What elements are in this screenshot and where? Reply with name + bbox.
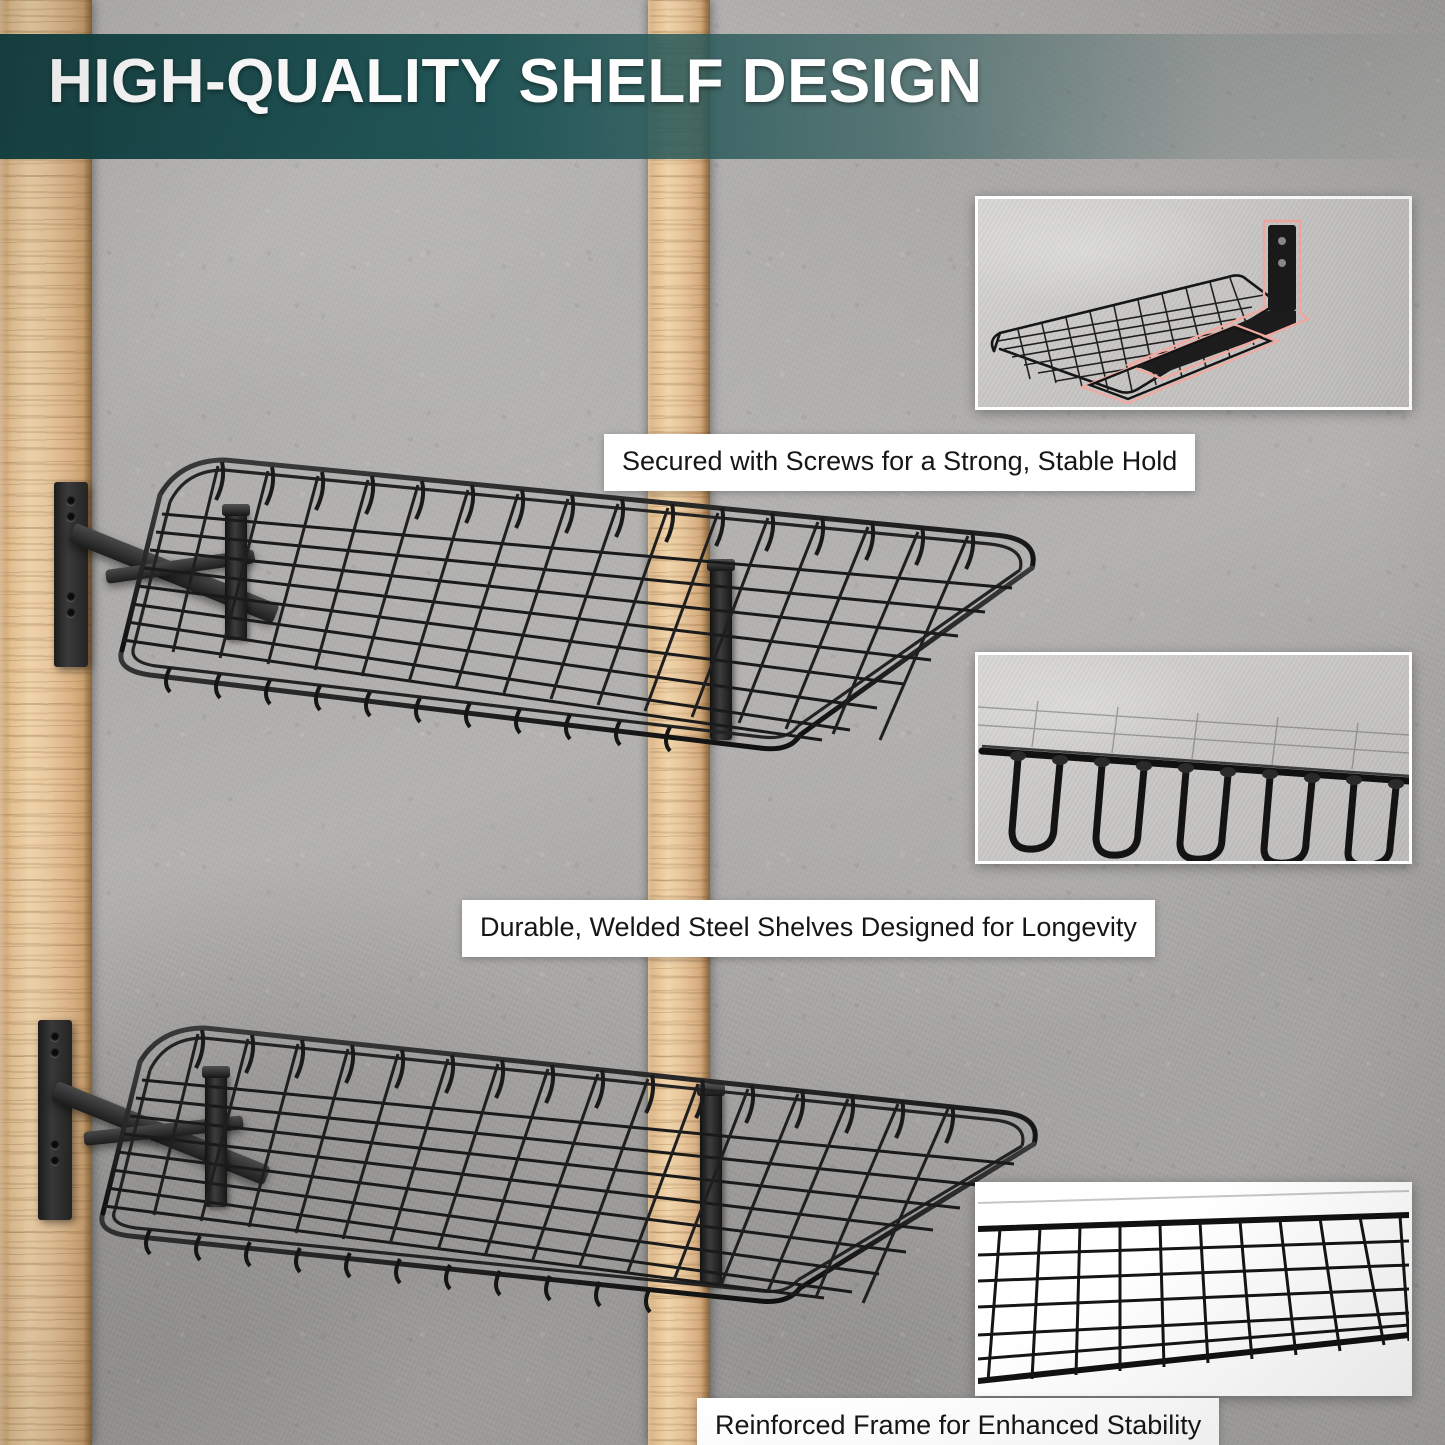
inset-weld-detail <box>975 652 1412 864</box>
inset-screws-detail <box>975 196 1412 410</box>
page-title: HIGH-QUALITY SHELF DESIGN <box>48 51 983 113</box>
lower-shelf-wire-mesh <box>0 1020 1060 1360</box>
inset-frame-detail <box>975 1182 1412 1396</box>
caption-screws: Secured with Screws for a Strong, Stable… <box>604 434 1195 491</box>
caption-frame: Reinforced Frame for Enhanced Stability <box>697 1398 1219 1445</box>
upper-shelf-wire-mesh <box>10 440 1070 780</box>
inset-screws-illustration <box>978 199 1409 407</box>
inset-frame-illustration <box>978 1185 1409 1393</box>
caption-weld: Durable, Welded Steel Shelves Designed f… <box>462 900 1155 957</box>
lower-shelf-assembly <box>0 1020 1045 1350</box>
product-image-canvas: HIGH-QUALITY SHELF DESIGN Secured with S… <box>0 0 1445 1445</box>
inset-weld-illustration <box>978 655 1409 861</box>
